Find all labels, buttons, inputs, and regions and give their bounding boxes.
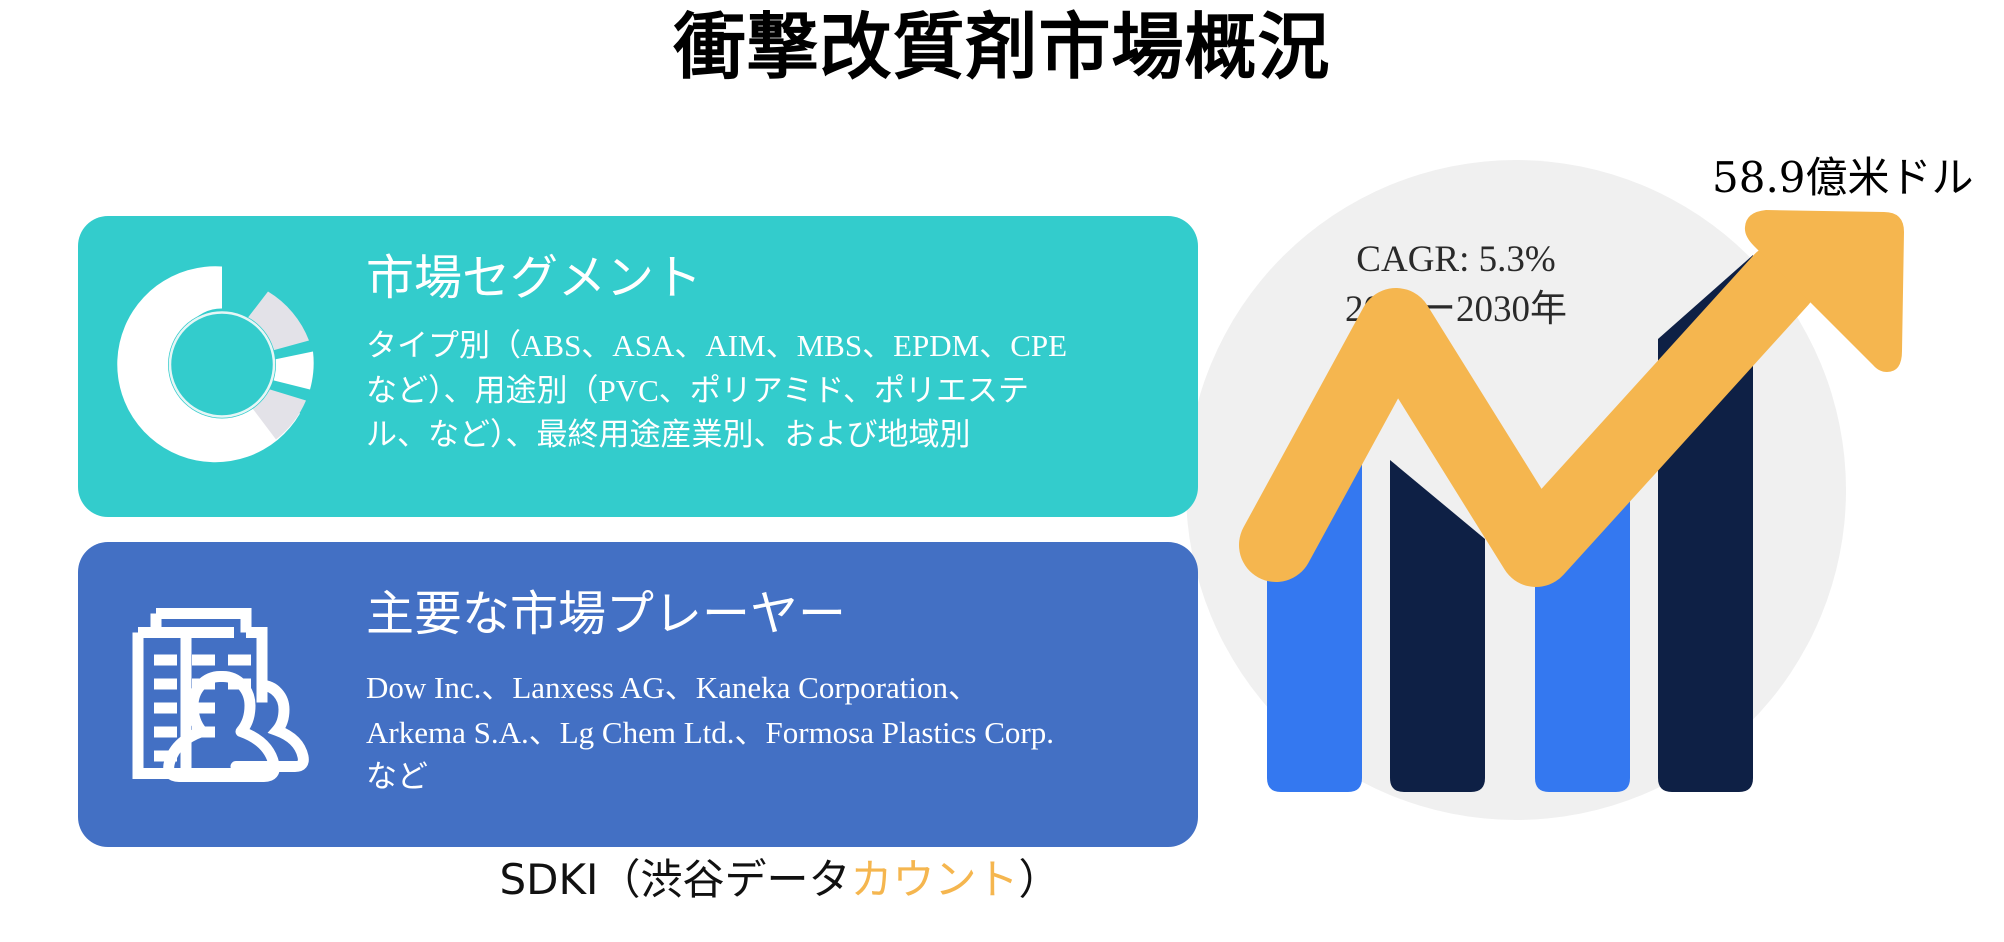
- source-attribution: SDKI（渋谷データカウント）: [0, 846, 1560, 907]
- company-people-icon: [116, 592, 316, 797]
- infographic-canvas: 衝撃改質剤市場概況 58.9億米ドル CAGR: 5.3% 2022ー2030年: [0, 0, 2004, 942]
- source-accent: カウント: [850, 855, 1018, 904]
- source-suffix: ）: [1018, 855, 1060, 904]
- page-title: 衝撃改質剤市場概況: [0, 6, 2004, 89]
- card-heading-players: 主要な市場プレーヤー: [366, 586, 1158, 644]
- card-text-block-segments: 市場セグメント タイプ別（ABS、ASA、AIM、MBS、EPDM、CPEなど）…: [366, 250, 1158, 458]
- card-market-players: 主要な市場プレーヤー Dow Inc.、Lanxess AG、Kaneka Co…: [78, 542, 1198, 847]
- card-market-segments: 市場セグメント タイプ別（ABS、ASA、AIM、MBS、EPDM、CPEなど）…: [78, 216, 1198, 517]
- card-body-segments: タイプ別（ABS、ASA、AIM、MBS、EPDM、CPEなど）、用途別（PVC…: [366, 324, 1076, 459]
- bar-chart-arrow-graphic: [1146, 120, 1906, 880]
- source-prefix: SDKI（渋谷データ: [500, 855, 851, 904]
- card-text-block-players: 主要な市場プレーヤー Dow Inc.、Lanxess AG、Kaneka Co…: [366, 586, 1158, 800]
- card-body-players: Dow Inc.、Lanxess AG、Kaneka Corporation、A…: [366, 666, 1076, 801]
- card-heading-segments: 市場セグメント: [366, 250, 1158, 308]
- building-windows: [154, 654, 251, 761]
- growth-graphic: CAGR: 5.3% 2022ー2030年: [1186, 160, 1866, 840]
- donut-chart-icon: [116, 258, 328, 475]
